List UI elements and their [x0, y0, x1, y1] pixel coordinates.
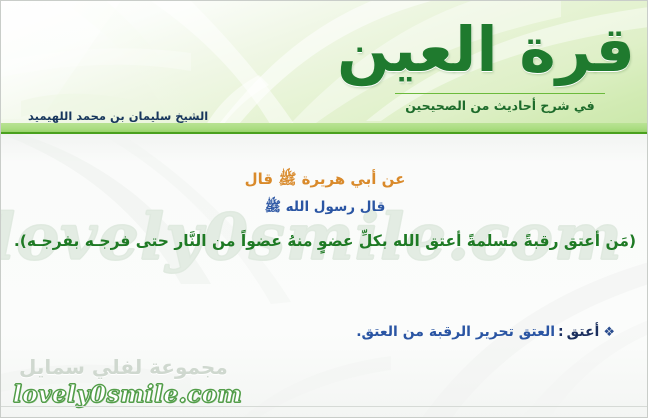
page-root: قرة العين في شرح أحاديث من الصحيحين الشي… [0, 0, 648, 418]
explanation-separator: : [555, 324, 567, 340]
prophet-attribution-line: قال رسول الله ﷺ [1, 198, 648, 218]
logo-subtitle-wrap: في شرح أحاديث من الصحيحين [395, 93, 604, 113]
explanation-definition: العتق تحرير الرقبة من العتق. [356, 324, 555, 340]
diamond-bullet-icon: ❖ [603, 325, 615, 340]
logo-subtitle: في شرح أحاديث من الصحيحين [405, 98, 594, 113]
explanation-term: أعتق [567, 324, 600, 340]
site-logo: قرة العين في شرح أحاديث من الصحيحين [365, 5, 635, 114]
author-name: الشيخ سليمان بن محمد اللهيميد [28, 109, 208, 123]
logo-title: قرة العين [365, 5, 635, 95]
hadith-text: (مَن أعتق رقبةً مسلمةً أعتق الله بكلِّ ع… [1, 232, 648, 250]
explanation-row: ❖أعتق:العتق تحرير الرقبة من العتق. [356, 324, 615, 340]
page-header: قرة العين في شرح أحاديث من الصحيحين الشي… [1, 1, 648, 134]
content-area: lovely0smile.com عن أبي هريرة ﷺ قال قال … [1, 134, 648, 418]
narrator-line: عن أبي هريرة ﷺ قال [1, 170, 648, 192]
